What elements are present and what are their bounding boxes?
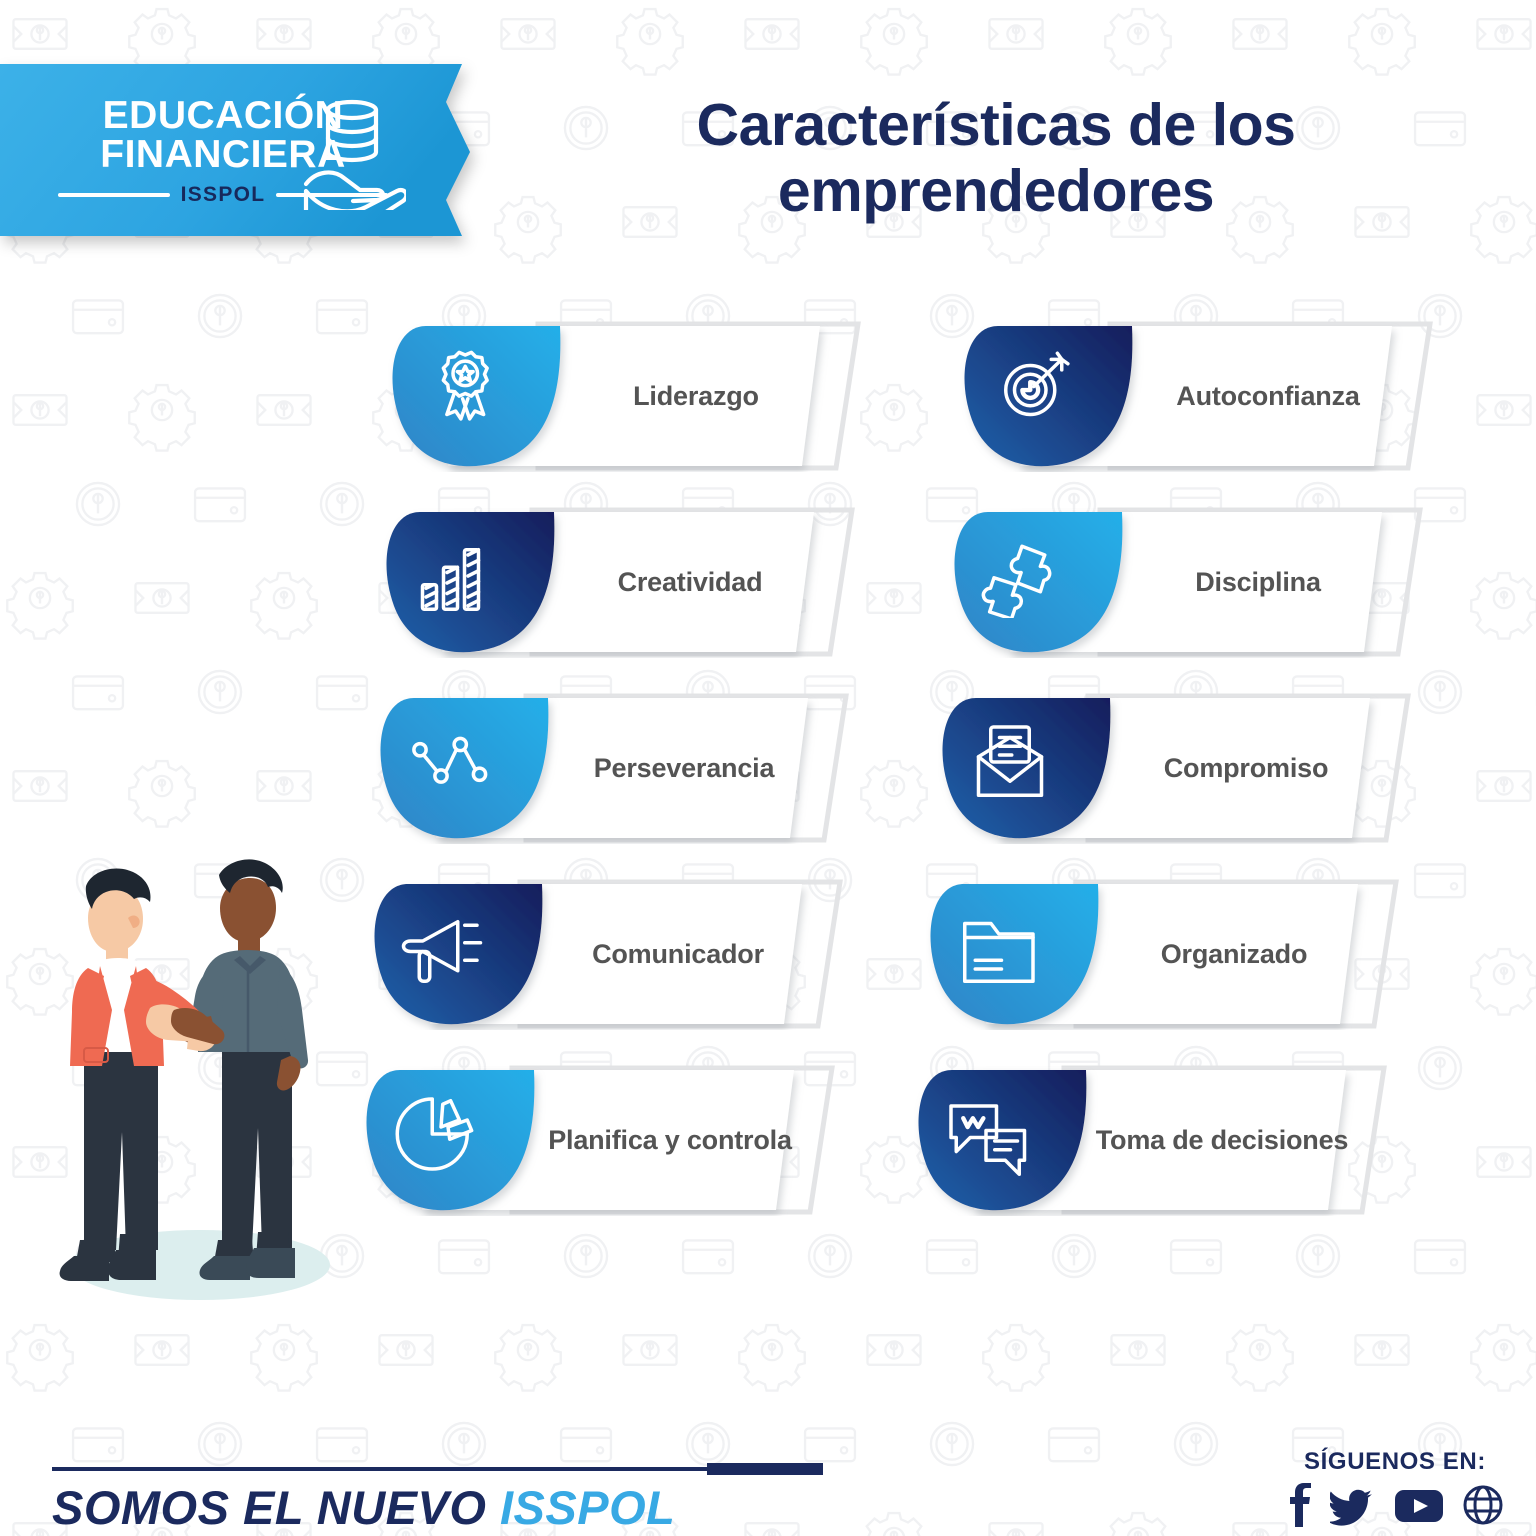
- characteristic-card[interactable]: Autoconfianza: [960, 320, 1460, 472]
- card-label: Liderazgo: [528, 320, 868, 472]
- card-label: Planifica y controla: [502, 1064, 842, 1216]
- coins-on-hand-icon: [298, 92, 406, 210]
- follow-us-block: SÍGUENOS EN:: [1286, 1448, 1504, 1527]
- banner-subtitle: ISSPOL: [181, 183, 266, 207]
- page-title-line-1: Características de los: [586, 92, 1406, 158]
- card-label: Organizado: [1066, 878, 1406, 1030]
- characteristic-card[interactable]: Organizado: [926, 878, 1426, 1030]
- characteristic-card[interactable]: Planifica y controla: [362, 1064, 862, 1216]
- banner-rule-left: [58, 193, 170, 197]
- footer-tagline-main: SOMOS EL NUEVO: [52, 1481, 500, 1534]
- card-label: Creatividad: [522, 506, 862, 658]
- card-label: Perseverancia: [516, 692, 856, 844]
- footer-tagline-brand: ISSPOL: [500, 1481, 675, 1534]
- person-right: [180, 859, 308, 1280]
- social-icon-row: [1286, 1483, 1504, 1527]
- characteristic-card[interactable]: Comunicador: [370, 878, 870, 1030]
- card-label: Comunicador: [510, 878, 850, 1030]
- card-label: Toma de decisiones: [1054, 1064, 1394, 1216]
- card-label: Autoconfianza: [1100, 320, 1440, 472]
- footer-rule-thin: [52, 1467, 712, 1471]
- youtube-icon[interactable]: [1394, 1483, 1444, 1527]
- characteristic-card[interactable]: Compromiso: [938, 692, 1438, 844]
- line-graph-icon: [406, 720, 490, 804]
- puzzle-pieces-icon: [980, 534, 1064, 618]
- card-row: PerseveranciaCompromiso: [360, 692, 1510, 878]
- pie-chart-icon: [392, 1092, 476, 1176]
- characteristic-card[interactable]: Liderazgo: [388, 320, 888, 472]
- open-envelope-icon: [968, 720, 1052, 804]
- follow-us-label: SÍGUENOS EN:: [1304, 1448, 1486, 1476]
- footer-rule: [52, 1463, 774, 1475]
- characteristics-card-grid: LiderazgoAutoconfianzaCreatividadDiscipl…: [360, 320, 1510, 1250]
- page-title-line-2: emprendedores: [586, 158, 1406, 224]
- twitter-icon[interactable]: [1330, 1483, 1376, 1527]
- footer-rule-thick: [707, 1463, 823, 1475]
- folder-icon: [956, 906, 1040, 990]
- person-left: [60, 868, 225, 1281]
- website-globe-icon[interactable]: [1462, 1483, 1504, 1527]
- characteristic-card[interactable]: Disciplina: [950, 506, 1450, 658]
- characteristic-card[interactable]: Creatividad: [382, 506, 882, 658]
- page-title: Características de los emprendedores: [586, 92, 1406, 224]
- megaphone-icon: [400, 906, 484, 990]
- facebook-icon[interactable]: [1286, 1483, 1312, 1527]
- chat-bubbles-icon: [944, 1092, 1028, 1176]
- education-banner: EDUCACIÓN FINANCIERA ISSPOL: [0, 64, 492, 240]
- bar-chart-icon: [412, 534, 496, 618]
- card-row: LiderazgoAutoconfianza: [360, 320, 1510, 506]
- card-row: CreatividadDisciplina: [360, 506, 1510, 692]
- card-label: Compromiso: [1078, 692, 1418, 844]
- card-label: Disciplina: [1090, 506, 1430, 658]
- footer-tagline: SOMOS EL NUEVO ISSPOL: [52, 1480, 675, 1535]
- characteristic-card[interactable]: Toma de decisiones: [914, 1064, 1414, 1216]
- award-ribbon-icon: [418, 348, 502, 432]
- card-row: Planifica y controlaToma de decisiones: [360, 1064, 1510, 1250]
- characteristic-card[interactable]: Perseverancia: [376, 692, 876, 844]
- card-row: ComunicadorOrganizado: [360, 878, 1510, 1064]
- two-businessmen-handshake-illustration: [22, 770, 382, 1330]
- target-arrow-icon: [990, 348, 1074, 432]
